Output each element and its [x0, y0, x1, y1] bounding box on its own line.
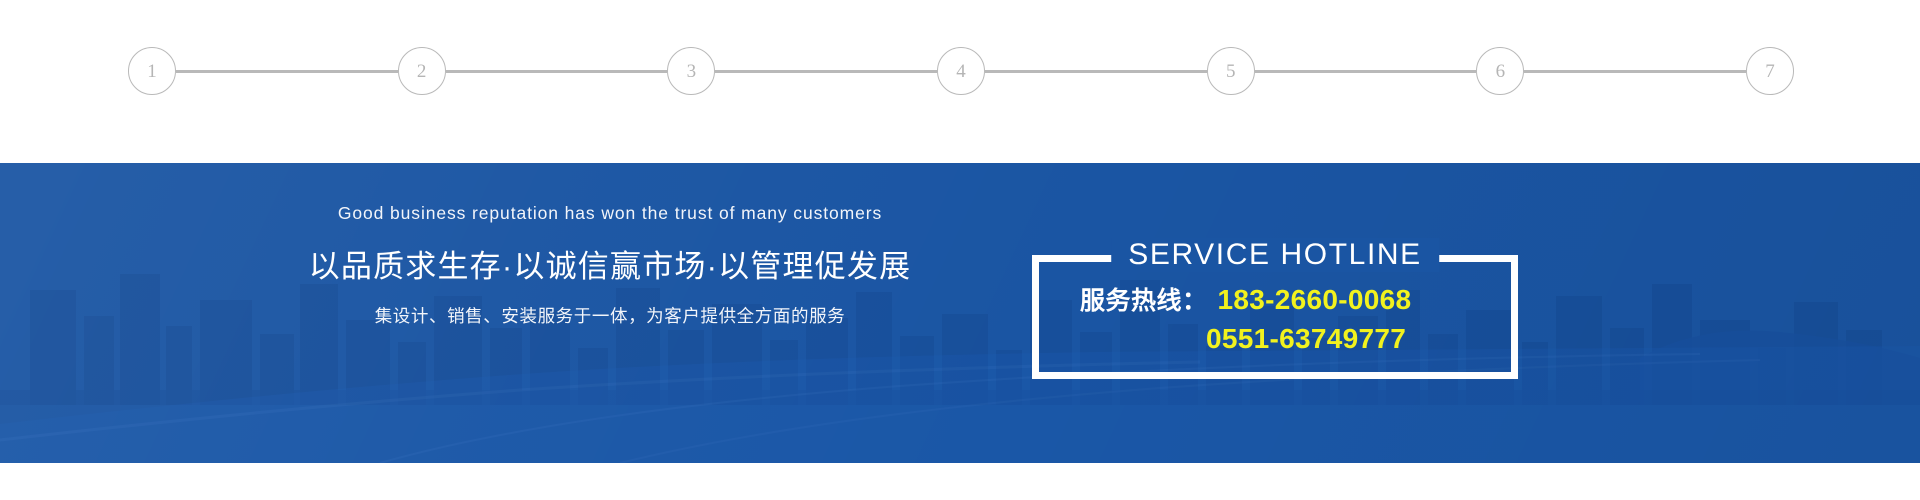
step-connector-2-3 — [446, 70, 668, 73]
hotline-secondary-row: 0551-63749777 — [1080, 323, 1502, 355]
step-label: 5 — [1226, 62, 1236, 81]
step-pagination: 1 2 3 4 5 6 7 — [128, 47, 1794, 95]
hotline-number-primary[interactable]: 183-2660-0068 — [1218, 284, 1412, 316]
step-label: 3 — [687, 62, 697, 81]
hotline-label: 服务热线： — [1080, 281, 1208, 317]
step-connector-3-4 — [715, 70, 937, 73]
step-connector-6-7 — [1524, 70, 1746, 73]
slogan-english-line: Good business reputation has won the tru… — [300, 203, 920, 224]
step-node-6[interactable]: 6 — [1476, 47, 1524, 95]
step-connector-4-5 — [985, 70, 1207, 73]
slogan-chinese-headline: 以品质求生存·以诚信赢市场·以管理促发展 — [300, 241, 920, 286]
step-node-4[interactable]: 4 — [937, 47, 985, 95]
service-banner: Good business reputation has won the tru… — [0, 163, 1920, 463]
page-root: 1 2 3 4 5 6 7 — [0, 0, 1920, 500]
step-label: 2 — [417, 62, 427, 81]
slogan-chinese-subline: 集设计、销售、安装服务于一体，为客户提供全方面的服务 — [300, 303, 920, 328]
highway-background-image — [0, 328, 1920, 463]
cityscape-background-image — [0, 230, 1920, 405]
step-connector-1-2 — [176, 70, 398, 73]
step-label: 1 — [147, 62, 157, 81]
step-label: 6 — [1496, 62, 1506, 81]
step-label: 4 — [956, 62, 966, 81]
step-pagination-bar: 1 2 3 4 5 6 7 — [0, 0, 1920, 163]
step-label: 7 — [1765, 62, 1775, 81]
hotline-title: SERVICE HOTLINE — [1111, 238, 1439, 272]
step-node-1[interactable]: 1 — [128, 47, 176, 95]
step-node-5[interactable]: 5 — [1207, 47, 1255, 95]
step-node-2[interactable]: 2 — [398, 47, 446, 95]
step-node-3[interactable]: 3 — [667, 47, 715, 95]
footer-white-strip — [0, 463, 1920, 500]
step-connector-5-6 — [1255, 70, 1477, 73]
banner-gradient-overlay — [0, 163, 1920, 463]
hotline-body: 服务热线： 183-2660-0068 0551-63749777 — [1032, 281, 1518, 355]
slogan-block: Good business reputation has won the tru… — [300, 203, 920, 328]
hotline-primary-row: 服务热线： 183-2660-0068 — [1080, 281, 1502, 317]
hotline-number-secondary[interactable]: 0551-63749777 — [1206, 323, 1406, 355]
step-node-7[interactable]: 7 — [1746, 47, 1794, 95]
service-hotline-box: SERVICE HOTLINE 服务热线： 183-2660-0068 0551… — [1032, 255, 1518, 379]
